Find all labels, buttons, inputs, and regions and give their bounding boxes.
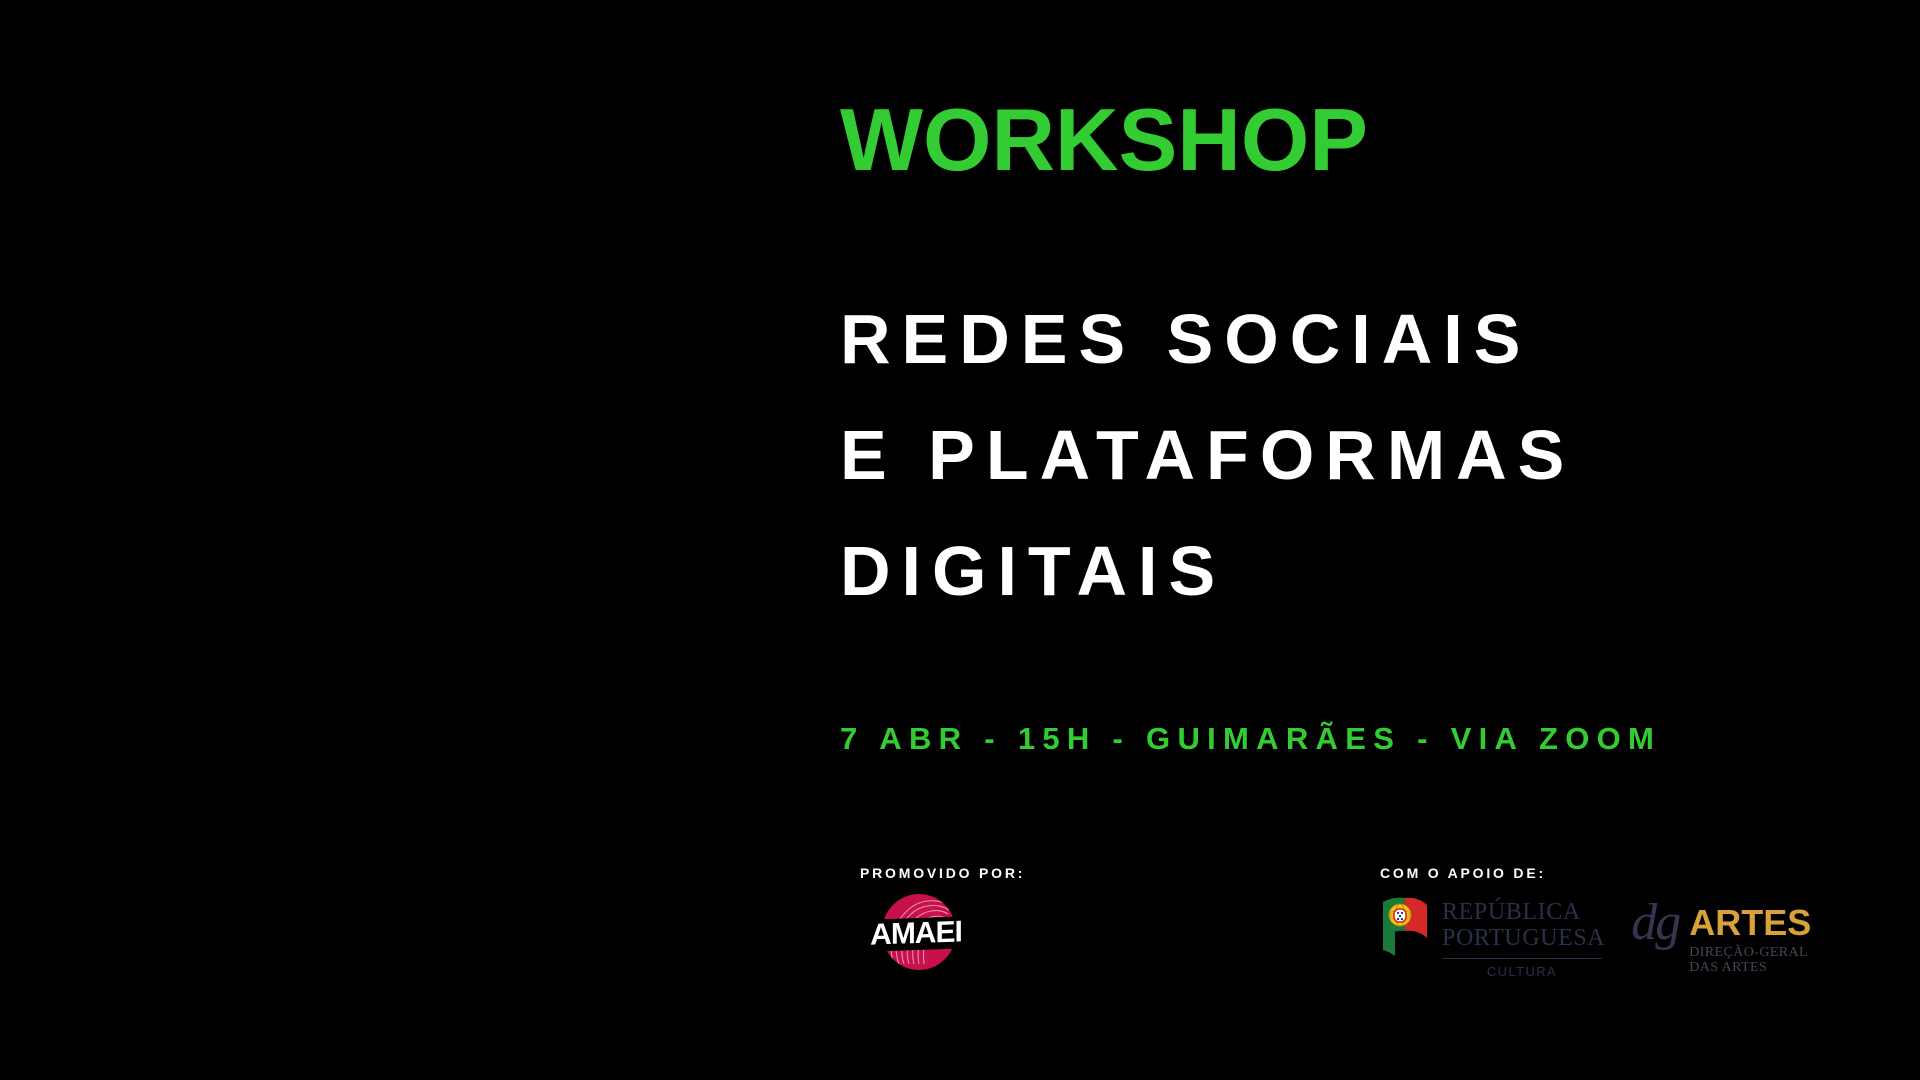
headline-line-2: E PLATAFORMAS (840, 397, 1575, 513)
dgartes-subtitle-line-2: DAS ARTES (1689, 960, 1808, 975)
dgartes-subtitle: DIREÇÃO-GERAL DAS ARTES (1689, 945, 1808, 975)
rp-divider (1442, 958, 1602, 959)
amaei-wordmark: AMAEI (860, 916, 972, 952)
promoter-logo-row: AMAEI (860, 896, 1025, 968)
support-logo-row: REPÚBLICA PORTUGUESA CULTURA dg ARTES (1380, 896, 1801, 979)
support-group: COM O APOIO DE: (1380, 866, 1801, 979)
dgartes-artes-mark: ARTES (1689, 905, 1811, 941)
promoter-label: PROMOVIDO POR: (860, 866, 1025, 880)
amaei-logo: AMAEI (860, 896, 972, 968)
dgartes-dg-mark: dg (1631, 897, 1679, 949)
poster-headline: REDES SOCIAIS E PLATAFORMAS DIGITAIS (840, 281, 1575, 629)
promoter-group: PROMOVIDO POR: (860, 866, 1025, 968)
republica-portuguesa-text: REPÚBLICA PORTUGUESA CULTURA (1442, 896, 1605, 979)
rp-line-1: REPÚBLICA (1442, 899, 1605, 925)
dgartes-logo: dg ARTES DIREÇÃO-GERAL DAS ARTES (1631, 901, 1801, 975)
poster-kicker: WORKSHOP (840, 96, 1368, 184)
support-label: COM O APOIO DE: (1380, 866, 1801, 880)
rp-subtitle: CULTURA (1442, 964, 1602, 979)
event-details: 7 ABR - 15H - GUIMARÃES - VIA ZOOM (840, 723, 1661, 754)
dgartes-mark: dg ARTES (1631, 901, 1801, 947)
republica-portuguesa-logo: REPÚBLICA PORTUGUESA CULTURA (1380, 896, 1605, 979)
portugal-flag-emblem-icon (1380, 896, 1430, 958)
headline-line-3: DIGITAIS (840, 513, 1575, 629)
dgartes-subtitle-line-1: DIREÇÃO-GERAL (1689, 945, 1808, 960)
rp-line-2: PORTUGUESA (1442, 925, 1605, 951)
poster-canvas: WORKSHOP REDES SOCIAIS E PLATAFORMAS DIG… (0, 0, 1920, 1080)
poster-footer: PROMOVIDO POR: (840, 866, 1920, 1026)
headline-line-1: REDES SOCIAIS (840, 281, 1575, 397)
poster-content: WORKSHOP REDES SOCIAIS E PLATAFORMAS DIG… (840, 0, 1920, 1080)
